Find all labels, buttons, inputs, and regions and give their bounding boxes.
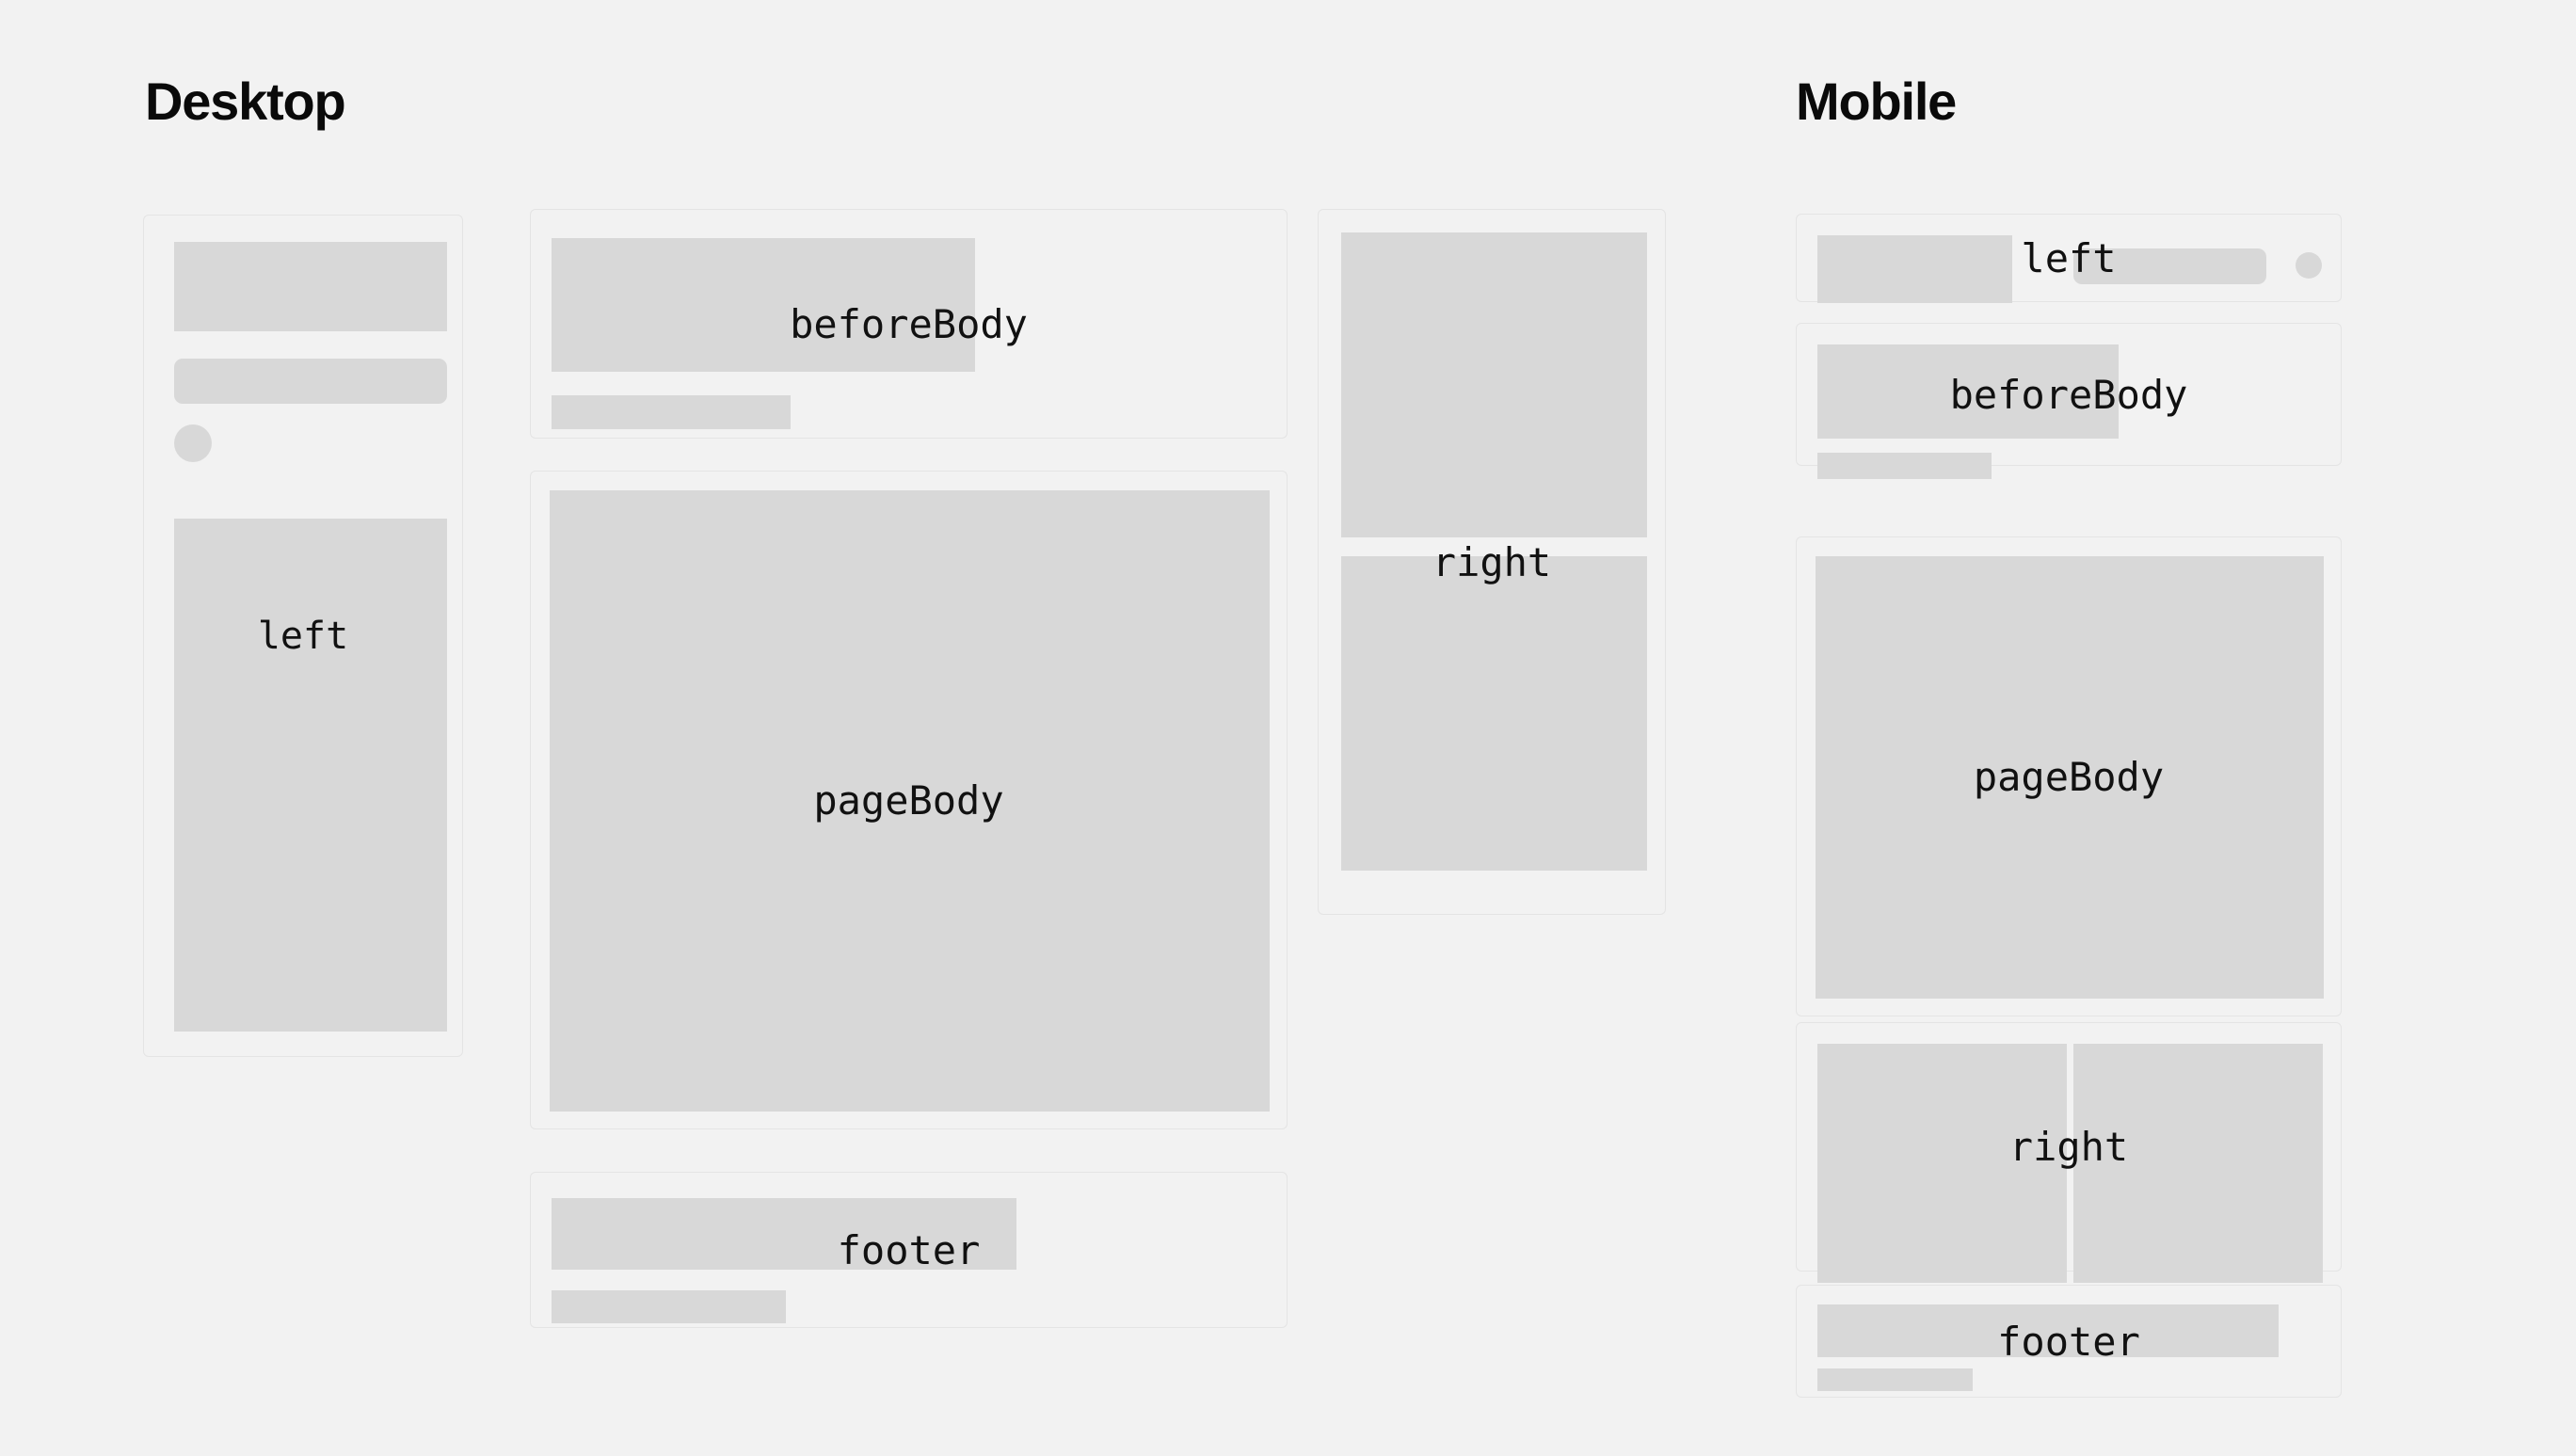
placeholder-avatar-circle — [2296, 252, 2322, 279]
placeholder-block — [552, 238, 975, 372]
layout-preview-canvas: Desktop left beforeBody pageBody footer … — [0, 0, 2576, 1456]
placeholder-block — [1341, 232, 1647, 537]
placeholder-block — [1817, 453, 1992, 479]
placeholder-block — [552, 1198, 1016, 1270]
placeholder-avatar-circle — [174, 424, 212, 462]
placeholder-block — [1817, 1304, 2279, 1357]
placeholder-block — [552, 395, 791, 429]
mobile-footer-panel[interactable] — [1796, 1285, 2342, 1398]
placeholder-block — [1341, 556, 1647, 871]
mobile-pagebody-panel[interactable] — [1796, 536, 2342, 1016]
mobile-section-title: Mobile — [1796, 75, 1956, 128]
placeholder-block — [1817, 1368, 1973, 1391]
placeholder-block — [1817, 344, 2119, 439]
placeholder-block — [174, 242, 447, 331]
placeholder-block — [2073, 1044, 2323, 1283]
desktop-section-title: Desktop — [145, 75, 345, 128]
mobile-right-panel[interactable] — [1796, 1022, 2342, 1272]
mobile-left-panel[interactable] — [1796, 214, 2342, 302]
desktop-left-panel[interactable] — [143, 215, 463, 1057]
desktop-right-panel[interactable] — [1318, 209, 1666, 915]
placeholder-block — [174, 359, 447, 404]
placeholder-block — [1816, 556, 2324, 999]
placeholder-block — [1817, 235, 2012, 303]
placeholder-block — [550, 490, 1270, 1112]
placeholder-block — [2073, 248, 2266, 284]
placeholder-block — [552, 1290, 786, 1323]
desktop-beforebody-panel[interactable] — [530, 209, 1288, 439]
mobile-beforebody-panel[interactable] — [1796, 323, 2342, 466]
placeholder-block — [174, 519, 447, 1032]
placeholder-block — [1817, 1044, 2067, 1283]
desktop-pagebody-panel[interactable] — [530, 471, 1288, 1129]
desktop-footer-panel[interactable] — [530, 1172, 1288, 1328]
